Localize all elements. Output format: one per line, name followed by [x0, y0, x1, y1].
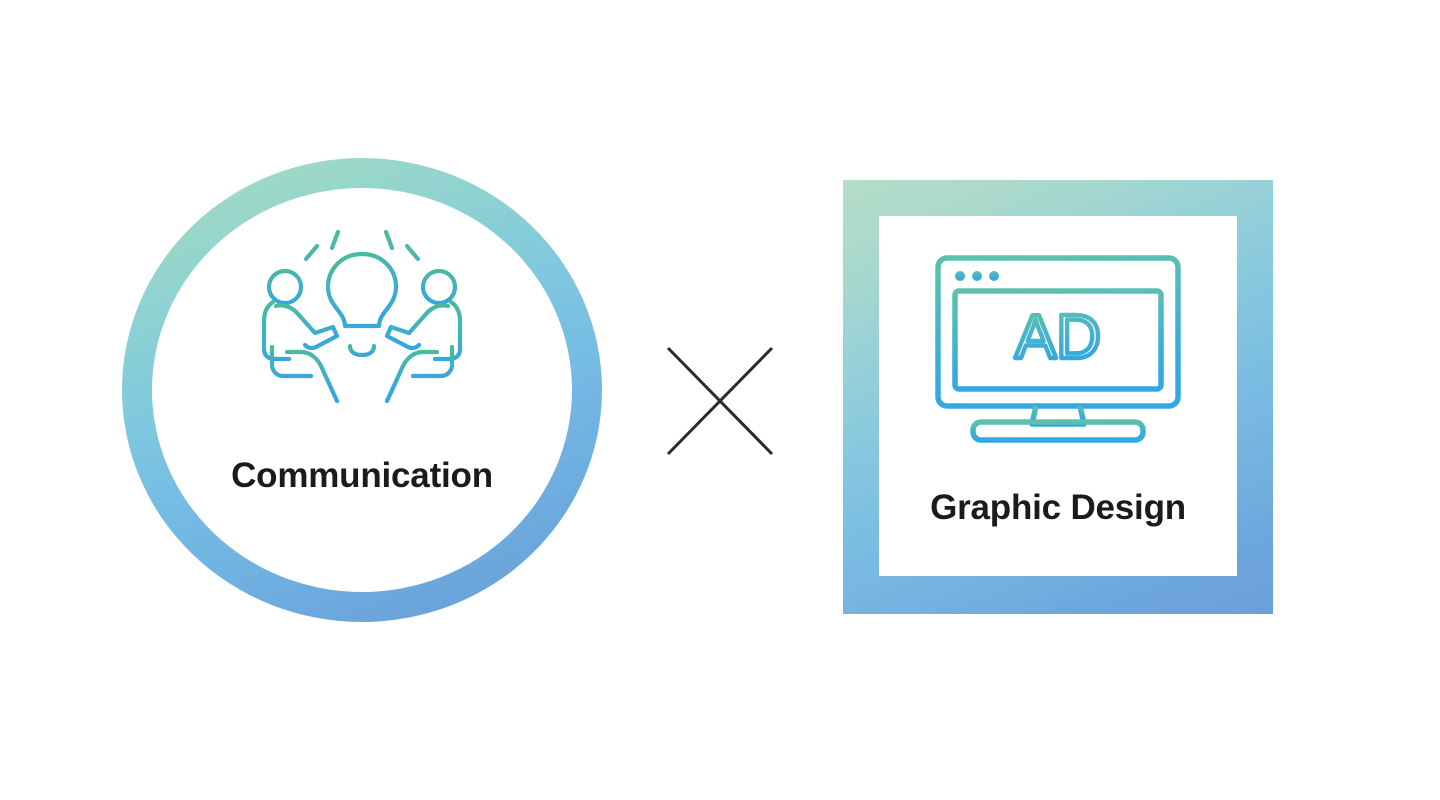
person-left-icon — [260, 271, 337, 401]
communication-label: Communication — [152, 456, 572, 496]
lightbulb-icon — [328, 254, 396, 355]
meeting-lightbulb-icon — [242, 222, 482, 432]
communication-card-inner: Communication — [152, 188, 572, 592]
monitor-base-icon — [973, 422, 1143, 440]
communication-card[interactable]: Communication — [122, 158, 602, 622]
person-right-icon — [387, 271, 464, 401]
table-icon — [325, 363, 399, 412]
monitor-ad-icon: AD — [933, 254, 1183, 444]
graphic-design-label: Graphic Design — [879, 488, 1237, 528]
slide-canvas: Communication — [0, 0, 1440, 800]
window-dots-icon — [955, 271, 999, 281]
graphic-design-card[interactable]: AD Graphic Design — [843, 180, 1273, 614]
graphic-design-card-inner: AD Graphic Design — [879, 216, 1237, 576]
multiply-cross-icon — [660, 340, 780, 462]
monitor-ad-text: AD — [1015, 303, 1101, 372]
